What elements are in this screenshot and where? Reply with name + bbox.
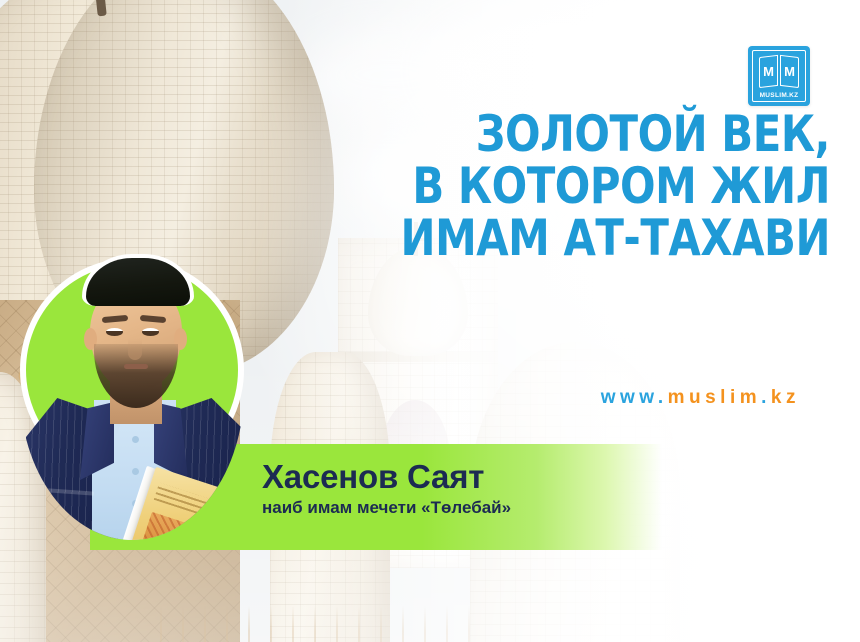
poster-canvas: M M MUSLIM.KZ ЗОЛОТОЙ ВЕК, В КОТОРОМ ЖИЛ… bbox=[0, 0, 860, 642]
speaker-name: Хасенов Саят bbox=[262, 458, 511, 496]
eye-left bbox=[106, 328, 123, 336]
nose bbox=[128, 338, 142, 360]
mouth bbox=[124, 364, 148, 369]
headline-line-3: ИМАМ АТ-ТАХАВИ bbox=[365, 212, 830, 264]
headline-line-1: ЗОЛОТОЙ ВЕК, bbox=[365, 108, 830, 160]
speaker-photo bbox=[18, 240, 246, 540]
page-title: ЗОЛОТОЙ ВЕК, В КОТОРОМ ЖИЛ ИМАМ АТ-ТАХАВ… bbox=[365, 108, 830, 264]
skullcap bbox=[82, 254, 194, 306]
headline-line-2: В КОТОРОМ ЖИЛ bbox=[365, 160, 830, 212]
speaker-avatar bbox=[20, 258, 244, 482]
speaker-role: наиб имам мечети «Төлебай» bbox=[262, 497, 511, 519]
shirt-button bbox=[132, 436, 139, 443]
eye-right bbox=[142, 328, 159, 336]
url-part-name: muslim bbox=[668, 387, 762, 408]
logo-book-icon: M M bbox=[759, 56, 799, 87]
shirt-button bbox=[132, 468, 139, 475]
logo-brand-text: MUSLIM.KZ bbox=[748, 92, 810, 99]
url-part-www: www. bbox=[601, 387, 668, 408]
logo-letter-right: M bbox=[780, 65, 799, 78]
url-part-dot: . bbox=[761, 387, 771, 408]
url-part-tld: kz bbox=[771, 387, 800, 408]
website-url[interactable]: www.muslim.kz bbox=[430, 387, 800, 409]
logo-letter-left: M bbox=[759, 65, 778, 78]
speaker-text-block: Хасенов Саят наиб имам мечети «Төлебай» bbox=[262, 458, 511, 519]
muslim-kz-logo[interactable]: M M MUSLIM.KZ bbox=[748, 46, 810, 106]
